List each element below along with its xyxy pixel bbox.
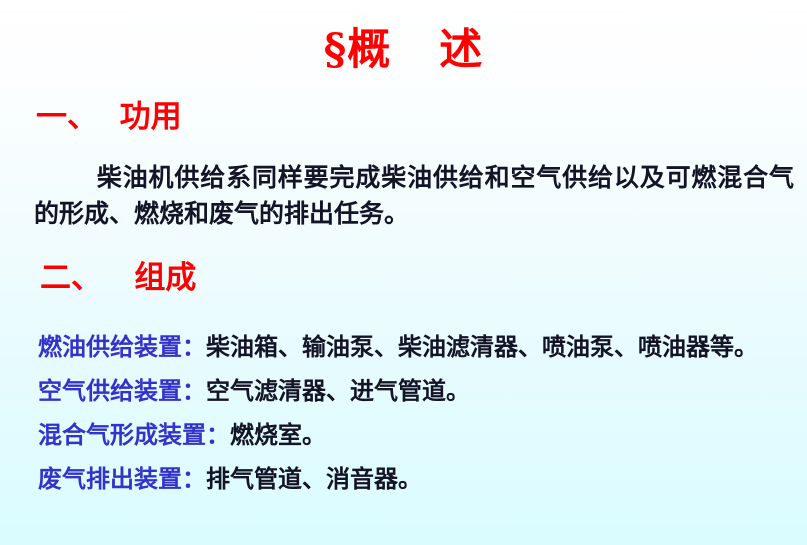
list-item: 废气排出装置：排气管道、消音器。 (38, 457, 800, 501)
section-heading-composition: 二、 组成 (40, 261, 196, 297)
paragraph-text: 柴油机供给系同样要完成柴油供给和空气供给以及可燃混合气的形成、燃烧和废气的排出任… (34, 163, 794, 228)
component-value: 柴油箱、输油泵、柴油滤清器、喷油泵、喷油器等。 (206, 332, 758, 361)
component-label: 空气供给装置： (38, 376, 206, 405)
list-item: 燃油供给装置：柴油箱、输油泵、柴油滤清器、喷油泵、喷油器等。 (38, 325, 800, 369)
component-value: 空气滤清器、进气管道。 (206, 376, 470, 405)
component-label: 燃油供给装置： (38, 332, 206, 361)
component-value: 排气管道、消音器。 (206, 464, 422, 493)
component-list: 燃油供给装置：柴油箱、输油泵、柴油滤清器、喷油泵、喷油器等。 空气供给装置：空气… (38, 325, 800, 501)
list-item: 空气供给装置：空气滤清器、进气管道。 (38, 369, 800, 413)
component-value: 燃烧室。 (230, 420, 326, 449)
component-label: 废气排出装置： (38, 464, 206, 493)
section-heading-function: 一、 功用 (36, 100, 182, 136)
list-item: 混合气形成装置：燃烧室。 (38, 413, 800, 457)
component-label: 混合气形成装置： (38, 420, 230, 449)
presentation-slide: §概 述 一、 功用 柴油机供给系同样要完成柴油供给和空气供给以及可燃混合气的形… (0, 0, 807, 545)
function-paragraph: 柴油机供给系同样要完成柴油供给和空气供给以及可燃混合气的形成、燃烧和废气的排出任… (34, 160, 794, 232)
page-title: §概 述 (0, 26, 807, 74)
